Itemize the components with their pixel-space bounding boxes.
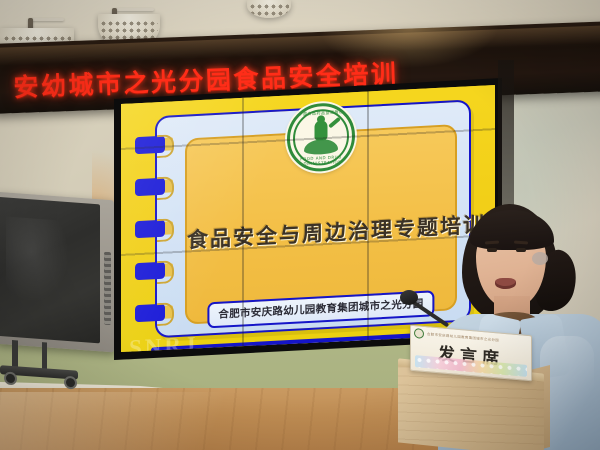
photo-scene: 安幼城市之光分园食品安全培训 [0, 0, 600, 450]
eye [487, 248, 497, 252]
interactive-whiteboard[interactable] [0, 196, 122, 376]
whiteboard-frame [0, 192, 114, 353]
ceiling-light-fixture [247, 0, 291, 18]
ceiling-light-arm [116, 8, 154, 11]
binder-ring [135, 262, 165, 281]
microphone-head-icon [400, 290, 418, 305]
emblem-figure-body [315, 120, 328, 141]
binder-ring [135, 220, 165, 239]
podium: 合肥市安庆路幼儿园教育集团城市之光分园 发言席 [398, 352, 548, 450]
binder-ring [135, 178, 165, 197]
emblem-bottom-text: FOOD AND DRUG ADMINISTRATION [290, 154, 352, 167]
hair-tie [532, 252, 548, 265]
whiteboard-screen[interactable] [0, 197, 100, 343]
eye [516, 248, 526, 252]
screen-glare [6, 217, 69, 305]
binder-rings [135, 135, 175, 325]
ceiling-light-arm [30, 18, 64, 21]
slide-title: 食品安全与周边治理专题培训 [187, 210, 455, 254]
floor-reflection [0, 392, 360, 450]
binder-ring [135, 304, 165, 323]
mouth [495, 278, 516, 289]
stand-post [42, 342, 47, 370]
whiteboard-stand [8, 340, 72, 378]
food-safety-emblem-icon: 中国食品药品监督管理 FOOD AND DRUG ADMINISTRATION [287, 102, 355, 174]
caster-wheel [4, 371, 17, 385]
binder-ring [135, 136, 165, 155]
caster-wheel [64, 376, 77, 390]
whiteboard-side-buttons[interactable] [104, 251, 111, 324]
